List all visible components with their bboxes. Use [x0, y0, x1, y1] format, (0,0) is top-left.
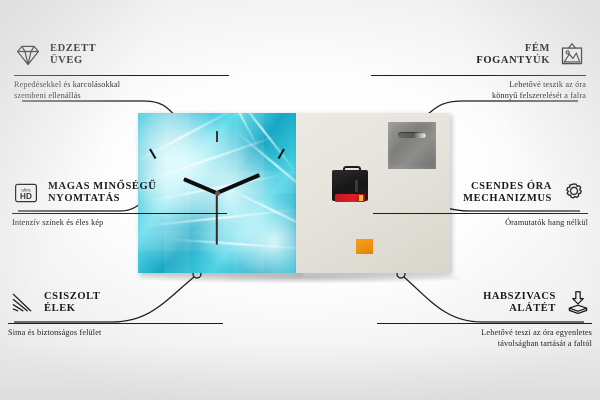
feature-desc-line1: Óramutatók hang nélkül: [373, 218, 588, 229]
feature-divider: [12, 213, 227, 214]
feature-desc-line1: Intenzív színek és éles kép: [12, 218, 227, 229]
feature-metal-handles: FÉM FOGANTYÚK Lehetővé teszik az óra kön…: [371, 38, 586, 101]
feature-title-line2: ÉLEK: [44, 303, 100, 316]
feature-desc-line1: Sima és biztonságos felület: [8, 328, 223, 339]
diamond-icon: [14, 42, 42, 68]
metal-hanger-plate: [388, 122, 436, 169]
svg-text:HD: HD: [20, 192, 32, 201]
feature-title-line2: ÜVEG: [50, 55, 96, 68]
feature-title-line1: FÉM: [476, 43, 550, 56]
feature-title-line2: ALÁTÉT: [483, 303, 556, 316]
feature-title-line2: MECHANIZMUS: [463, 193, 552, 206]
mechanism-body: [332, 170, 368, 201]
picture-hanger-icon: [558, 42, 586, 68]
foam-pad-icon: [564, 290, 592, 316]
feature-title-line1: CSISZOLT: [44, 291, 100, 304]
feature-desc-line2: távolságban tartását a faltól: [377, 339, 592, 350]
mechanism-battery: [335, 194, 365, 202]
hanger-slot: [398, 132, 426, 138]
feature-divider: [377, 323, 592, 324]
feature-divider: [371, 75, 586, 76]
feature-desc-line2: szembeni ellenállás: [14, 91, 229, 102]
feature-title-line1: CSENDES ÓRA: [463, 181, 552, 194]
feature-tempered-glass: EDZETT ÜVEG Repedésekkel és karcolásokka…: [14, 38, 229, 101]
feature-desc-line1: Lehetővé teszik az óra: [371, 80, 586, 91]
feature-desc-line2: könnyű felszerelését a falra: [371, 91, 586, 102]
feature-divider: [8, 323, 223, 324]
feature-foam-pad: HABSZIVACS ALÁTÉT Lehetővé teszi az óra …: [377, 286, 592, 349]
gear-icon: [560, 180, 588, 206]
feature-divider: [14, 75, 229, 76]
feature-title-line2: NYOMTATÁS: [48, 193, 156, 206]
infographic-canvas: EDZETT ÜVEG Repedésekkel és karcolásokka…: [0, 0, 600, 400]
feature-title-line2: FOGANTYÚK: [476, 55, 550, 68]
feature-desc-line1: Repedésekkel és karcolásokkal: [14, 80, 229, 91]
feature-title-line1: MAGAS MINŐSÉGŰ: [48, 181, 156, 194]
product-shadow: [140, 272, 460, 283]
polished-edge-icon: [8, 290, 36, 316]
ultra-hd-icon: ultra HD: [12, 180, 40, 206]
feature-high-quality-print: ultra HD MAGAS MINŐSÉGŰ NYOMTATÁS Intenz…: [12, 176, 227, 229]
foam-spacer-pad: [356, 239, 373, 254]
feature-desc-line1: Lehetővé teszi az óra egyenletes: [377, 328, 592, 339]
feature-quiet-mechanism: CSENDES ÓRA MECHANIZMUS Óramutatók hang …: [373, 176, 588, 229]
clock-mechanism: [332, 166, 368, 201]
feature-title-line1: HABSZIVACS: [483, 291, 556, 304]
feature-divider: [373, 213, 588, 214]
mechanism-shaft: [355, 180, 358, 192]
feature-title-line1: EDZETT: [50, 43, 96, 56]
feature-polished-edges: CSISZOLT ÉLEK Sima és biztonságos felüle…: [8, 286, 223, 339]
